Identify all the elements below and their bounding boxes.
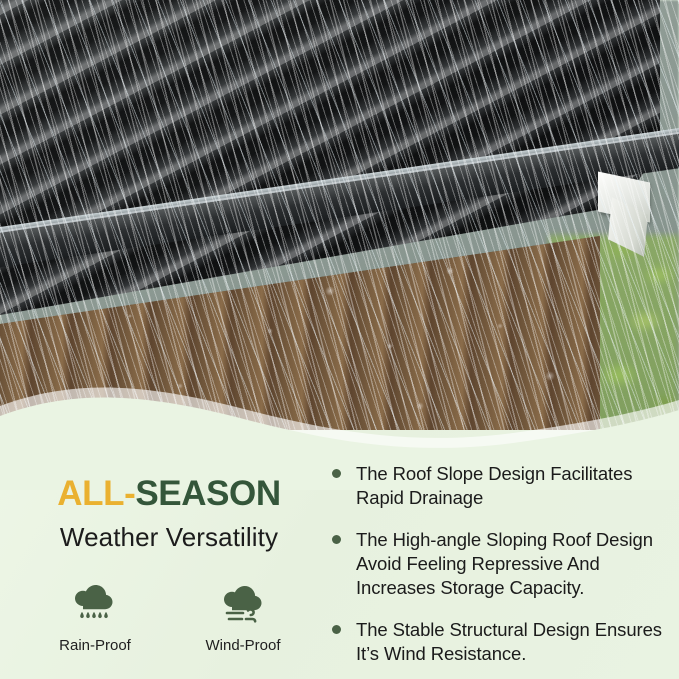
- wind-cloud-icon: [197, 575, 289, 633]
- badge-caption: Wind-Proof: [197, 637, 289, 654]
- badge-caption: Rain-Proof: [49, 637, 141, 654]
- headline-amber-part: ALL-: [57, 474, 135, 513]
- headline-green-part: SEASON: [135, 474, 280, 513]
- badge-wind-proof: Wind-Proof: [197, 575, 289, 654]
- list-item: The High-angle Sloping Roof Design Avoid…: [330, 528, 665, 600]
- left-column: ALL-SEASON Weather Versatility: [0, 440, 330, 679]
- bullet-dot-icon: [332, 625, 341, 634]
- bullet-dot-icon: [332, 535, 341, 544]
- list-item: The Stable Structural Design Ensures It’…: [330, 618, 665, 666]
- feature-bullet-list: The Roof Slope Design Facilitates Rapid …: [330, 462, 665, 666]
- page-subtitle: Weather Versatility: [8, 522, 330, 553]
- badge-rain-proof: Rain-Proof: [49, 575, 141, 654]
- list-item: The Roof Slope Design Facilitates Rapid …: [330, 462, 665, 510]
- feature-badges: Rain-Proof: [8, 575, 330, 654]
- bullet-dot-icon: [332, 469, 341, 478]
- product-feature-card: ALL-SEASON Weather Versatility: [0, 0, 679, 679]
- bullet-text: The Stable Structural Design Ensures It’…: [356, 619, 662, 664]
- panel-content: ALL-SEASON Weather Versatility: [0, 440, 679, 679]
- bullet-text: The Roof Slope Design Facilitates Rapid …: [356, 463, 632, 508]
- right-column: The Roof Slope Design Facilitates Rapid …: [330, 440, 679, 679]
- bullet-text: The High-angle Sloping Roof Design Avoid…: [356, 529, 653, 598]
- rain-cloud-icon: [49, 575, 141, 633]
- page-title: ALL-SEASON: [8, 476, 330, 511]
